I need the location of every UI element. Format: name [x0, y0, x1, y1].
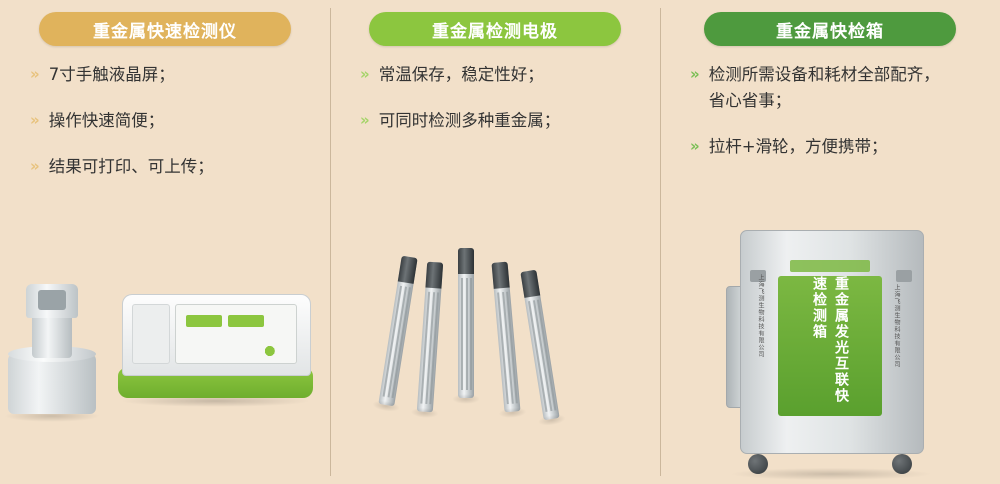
product-image-electrodes	[330, 184, 660, 484]
electrode-track	[537, 300, 556, 411]
bullet-list-electrode: » 常温保存，稳定性好； » 可同时检测多种重金属；	[330, 62, 660, 154]
panel-title-case: 重金属快检箱	[704, 12, 956, 46]
electrode-track	[391, 287, 410, 398]
electrode-track	[461, 278, 463, 390]
analyzer-body	[122, 294, 311, 376]
electrode-track	[466, 278, 468, 390]
list-item: » 操作快速简便；	[30, 108, 312, 134]
panel-heavy-metal-detection-electrode: 重金属检测电极 » 常温保存，稳定性好； » 可同时检测多种重金属；	[330, 0, 660, 484]
electrode-track	[528, 301, 547, 412]
accessory-slot	[38, 290, 66, 310]
chevron-double-right-icon: »	[690, 134, 700, 158]
shadow	[372, 399, 401, 413]
electrode-group	[330, 184, 660, 484]
list-item: » 7寸手触液晶屏；	[30, 62, 312, 88]
shadow	[537, 413, 566, 427]
panel-title-electrode: 重金属检测电极	[369, 12, 621, 46]
trolley-case: 重金属发光互联快速检测箱 上海飞测生物科技有限公司 上海飞测生物科技有限公司	[726, 168, 936, 478]
electrode-tip	[425, 262, 443, 289]
analyzer-accessory-module	[8, 274, 96, 414]
accessory-cylinder	[8, 354, 96, 414]
shadow	[410, 407, 439, 419]
list-item: » 拉杆+滑轮，方便携带；	[690, 134, 982, 160]
electrode-strip	[378, 256, 417, 407]
product-image-analyzer	[0, 184, 330, 484]
analyzer-instrument	[118, 288, 313, 398]
shadow	[498, 407, 527, 419]
electrode-tip	[398, 256, 418, 284]
electrode-strip	[417, 262, 443, 413]
bullet-text: 操作快速简便；	[49, 108, 165, 134]
list-item: » 可同时检测多种重金属；	[360, 108, 642, 134]
case-latch-right	[896, 270, 912, 282]
bullet-text: 可同时检测多种重金属；	[379, 108, 561, 134]
case-company-text: 上海飞测生物科技有限公司	[756, 274, 765, 358]
chevron-double-right-icon: »	[360, 108, 370, 132]
list-item: » 常温保存，稳定性好；	[360, 62, 642, 88]
product-feature-board: 重金属快速检测仪 » 7寸手触液晶屏； » 操作快速简便； » 结果可打印、可上…	[0, 0, 1000, 484]
chevron-double-right-icon: »	[360, 62, 370, 86]
screen-button-left	[186, 315, 222, 327]
analyzer-keypad	[132, 304, 170, 364]
brand-logo-icon	[262, 344, 288, 358]
case-label-text: 重金属发光互联快速检测箱	[808, 276, 852, 416]
bullet-list-analyzer: » 7寸手触液晶屏； » 操作快速简便； » 结果可打印、可上传；	[0, 62, 330, 200]
chevron-double-right-icon: »	[30, 62, 40, 86]
case-green-label: 重金属发光互联快速检测箱	[778, 276, 882, 416]
bullet-text: 检测所需设备和耗材全部配齐，省心省事；	[709, 62, 944, 114]
case-company-text-right: 上海飞测生物科技有限公司	[892, 284, 901, 368]
chevron-double-right-icon: »	[30, 108, 40, 132]
bullet-text: 常温保存，稳定性好；	[379, 62, 544, 88]
analyzer-touch-screen	[175, 304, 297, 364]
electrode-tip	[491, 262, 509, 289]
electrode-strip	[520, 270, 559, 421]
panel-heavy-metal-rapid-test-case: 重金属快检箱 » 检测所需设备和耗材全部配齐，省心省事； » 拉杆+滑轮，方便携…	[660, 0, 1000, 484]
panel-heavy-metal-rapid-analyzer: 重金属快速检测仪 » 7寸手触液晶屏； » 操作快速简便； » 结果可打印、可上…	[0, 0, 330, 484]
electrode-strip	[491, 262, 520, 413]
list-item: » 结果可打印、可上传；	[30, 154, 312, 180]
bullet-text: 结果可打印、可上传；	[49, 154, 214, 180]
list-item: » 检测所需设备和耗材全部配齐，省心省事；	[690, 62, 982, 114]
bullet-list-case: » 检测所需设备和耗材全部配齐，省心省事； » 拉杆+滑轮，方便携带；	[660, 62, 1000, 180]
electrode-tip	[458, 248, 474, 274]
electrode-track	[470, 278, 472, 390]
chevron-double-right-icon: »	[690, 62, 700, 86]
panel-title-analyzer: 重金属快速检测仪	[39, 12, 291, 46]
screen-button-right	[228, 315, 264, 327]
bullet-text: 拉杆+滑轮，方便携带；	[709, 134, 888, 160]
chevron-double-right-icon: »	[30, 154, 40, 178]
shadow	[732, 468, 930, 480]
electrode-track	[383, 286, 402, 397]
electrode-tip	[520, 270, 540, 298]
case-brand-strip	[790, 260, 870, 272]
bullet-text: 7寸手触液晶屏；	[49, 62, 175, 88]
product-image-case: 重金属发光互联快速检测箱 上海飞测生物科技有限公司 上海飞测生物科技有限公司	[660, 184, 1000, 484]
electrode-strip	[458, 248, 474, 398]
shadow	[452, 394, 480, 404]
